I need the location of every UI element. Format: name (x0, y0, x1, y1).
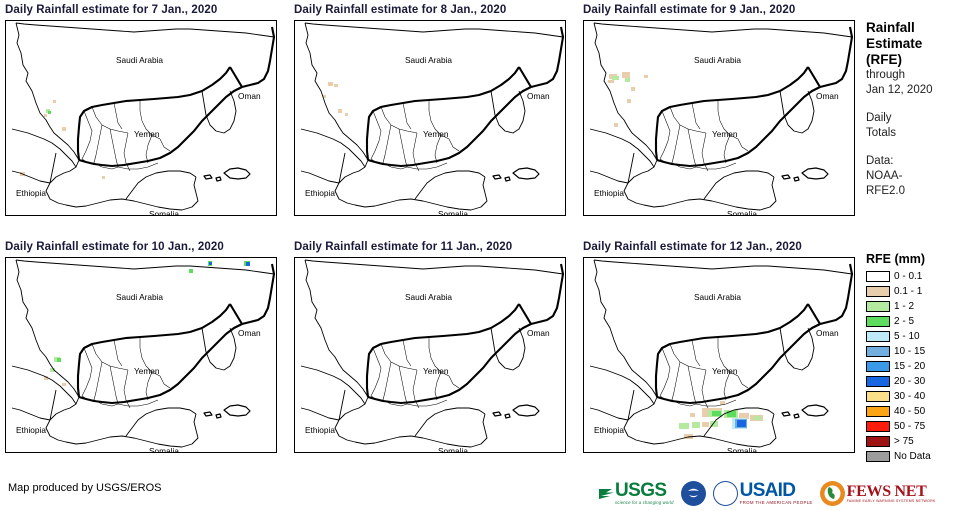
map-boundary (782, 412, 790, 416)
map-boundary (780, 328, 814, 370)
country-label: Ethiopia (16, 188, 46, 198)
country-label: Ethiopia (305, 188, 335, 198)
rainfall-cell (334, 84, 338, 87)
rainfall-cell (712, 411, 721, 416)
country-label: Oman (238, 328, 261, 338)
map-boundary (656, 304, 808, 397)
country-label: Somalia (727, 209, 757, 215)
map-boundary (146, 135, 152, 163)
map-boundary (78, 67, 230, 160)
rainfall-cell (102, 176, 105, 179)
legend-row: 30 - 40 (866, 389, 967, 404)
panel-title-4: Daily Rainfall estimate for 11 Jan., 202… (294, 240, 567, 256)
map-boundary (383, 125, 391, 163)
map-boundary (114, 340, 122, 366)
legend-row: 0 - 0.1 (866, 269, 967, 284)
legend-label: 50 - 75 (894, 421, 925, 432)
rainfall-cell (53, 100, 56, 103)
country-label: Saudi Arabia (405, 292, 452, 302)
rfe-title-line-3: (RFE) (866, 52, 967, 68)
map-boundary (82, 111, 92, 159)
usaid-wordmark: USAID (740, 482, 813, 500)
map-boundary (794, 177, 799, 181)
map-boundary (202, 328, 236, 370)
map-boundary (371, 348, 381, 396)
map-boundary (688, 366, 696, 404)
rfe-title-line-2: Estimate (866, 36, 967, 52)
country-label: Oman (527, 328, 550, 338)
country-label: Oman (238, 91, 261, 101)
map-boundary (435, 135, 441, 163)
map-boundary (114, 103, 122, 129)
map-boundary (403, 340, 411, 366)
map-boundary (692, 103, 700, 129)
map-boundary (656, 67, 808, 160)
rainfall-cell (246, 262, 250, 266)
panel-title-0: Daily Rainfall estimate for 7 Jan., 2020 (5, 3, 278, 19)
rainfall-cell (679, 423, 689, 429)
legend-label: > 75 (894, 436, 914, 447)
usgs-wave-icon (598, 485, 615, 502)
country-label: Saudi Arabia (405, 55, 452, 65)
map-boundary (724, 372, 730, 400)
rfe-data-line-2: NOAA- (866, 169, 967, 184)
map-panel-2[interactable]: Daily Rainfall estimate for 9 Jan., 2020… (583, 3, 856, 219)
rainfall-cell (57, 358, 61, 362)
map-boundary (672, 125, 680, 163)
map-boundary (399, 366, 407, 404)
rainfall-cell (338, 109, 342, 113)
legend-row: 40 - 50 (866, 404, 967, 419)
rainfall-cell (627, 99, 631, 103)
map-boundary (301, 408, 339, 420)
rainfall-cell (692, 422, 700, 428)
map-boundary (16, 260, 274, 274)
legend-swatch (866, 376, 890, 387)
map-boundary (435, 372, 441, 400)
map-panel-4[interactable]: Daily Rainfall estimate for 11 Jan., 202… (294, 240, 567, 456)
legend-swatch (866, 316, 890, 327)
legend-row: 1 - 2 (866, 299, 967, 314)
map-boundary (230, 304, 242, 324)
country-label: Saudi Arabia (694, 292, 741, 302)
map-boundary (802, 405, 828, 416)
map-boundary (110, 366, 118, 404)
legend-row: 15 - 20 (866, 359, 967, 374)
map-credit: Map produced by USGS/EROS (8, 482, 161, 494)
map-panel-0[interactable]: Daily Rainfall estimate for 7 Jan., 2020… (5, 3, 278, 219)
rainfall-cell (625, 78, 630, 82)
rfe-through-label: through (866, 68, 967, 83)
rainfall-cell (189, 269, 193, 273)
legend-heading: RFE (mm) (866, 252, 967, 266)
map-boundary (660, 111, 670, 159)
rainfall-cell (608, 80, 614, 83)
legend-swatch (866, 301, 890, 312)
legend-label: 2 - 5 (894, 316, 914, 327)
map-boundary (383, 362, 391, 400)
panel-title-2: Daily Rainfall estimate for 9 Jan., 2020 (583, 3, 856, 19)
map-panel-5[interactable]: Daily Rainfall estimate for 12 Jan., 202… (583, 240, 856, 456)
map-boundary (367, 67, 519, 160)
map-boundary (403, 103, 411, 129)
map-boundary (672, 362, 680, 400)
map-boundary (12, 129, 76, 167)
rainfall-cell (614, 123, 618, 127)
map-boundary (491, 91, 525, 133)
legend-row: 0.1 - 1 (866, 284, 967, 299)
info-spacer-2 (866, 141, 967, 154)
map-boundary (204, 412, 212, 416)
country-label: Yemen (423, 129, 449, 139)
country-label: Somalia (438, 446, 468, 452)
rainfall-map-0: Saudi ArabiaOmanYemenEthiopiaSomalia (6, 21, 276, 215)
map-boundary (449, 376, 459, 388)
map-boundary (519, 304, 531, 324)
map-boundary (704, 171, 774, 199)
map-boundary (519, 67, 531, 87)
legend-row: 10 - 15 (866, 344, 967, 359)
country-label: Yemen (712, 129, 738, 139)
rfe-data-line-1: Data: (866, 154, 967, 169)
rainfall-cell (612, 76, 619, 80)
usaid-tagline: FROM THE AMERICAN PEOPLE (740, 500, 813, 505)
map-boundary (590, 366, 654, 404)
rainfall-map-1: Saudi ArabiaOmanYemenEthiopiaSomalia (295, 21, 565, 215)
map-boundary (202, 91, 236, 133)
panel-title-3: Daily Rainfall estimate for 10 Jan., 202… (5, 240, 278, 256)
legend-swatch (866, 421, 890, 432)
legend-label: No Data (894, 451, 931, 462)
noaa-seal-icon (681, 481, 706, 506)
map-frame-0[interactable]: Saudi ArabiaOmanYemenEthiopiaSomalia (5, 20, 277, 216)
country-label: Somalia (149, 446, 179, 452)
rainfall-cell (345, 113, 348, 116)
legend-row: 20 - 30 (866, 374, 967, 389)
rainfall-cell (48, 111, 51, 114)
legend-swatch (866, 286, 890, 297)
map-boundary (738, 139, 748, 151)
legend-label: 20 - 30 (894, 376, 925, 387)
country-label: Saudi Arabia (116, 292, 163, 302)
map-boundary (493, 412, 501, 416)
map-boundary (491, 328, 525, 370)
map-boundary (590, 408, 628, 420)
rfe-info-block: Rainfall Estimate (RFE) through Jan 12, … (866, 20, 967, 199)
map-boundary (688, 129, 696, 167)
legend-row: No Data (866, 449, 967, 464)
map-boundary (738, 376, 748, 388)
map-boundary (305, 23, 563, 37)
rainfall-cell (622, 72, 630, 78)
map-boundary (794, 414, 799, 418)
map-panel-1[interactable]: Daily Rainfall estimate for 8 Jan., 2020… (294, 3, 567, 219)
map-boundary (594, 23, 852, 37)
agency-logo-row: USGS science for a changing world USAID … (598, 478, 935, 508)
map-boundary (513, 168, 539, 179)
fewsnet-globe-icon (820, 481, 845, 506)
legend-swatch (866, 451, 890, 462)
legend-row: > 75 (866, 434, 967, 449)
country-label: Oman (816, 328, 839, 338)
map-boundary (493, 175, 501, 179)
map-boundary (660, 348, 670, 396)
legend-swatch (866, 361, 890, 372)
usaid-logo[interactable]: USAID FROM THE AMERICAN PEOPLE (713, 479, 813, 507)
rfe-through-date: Jan 12, 2020 (866, 83, 967, 98)
country-label: Yemen (423, 366, 449, 376)
info-spacer-1 (866, 98, 967, 111)
panel-title-5: Daily Rainfall estimate for 12 Jan., 202… (583, 240, 856, 256)
noaa-logo[interactable] (681, 479, 706, 507)
legend-label: 10 - 15 (894, 346, 925, 357)
usgs-logo[interactable]: USGS science for a changing world (598, 479, 674, 507)
legend-label: 40 - 50 (894, 406, 925, 417)
noaa-bird-icon (685, 485, 702, 502)
map-boundary (216, 414, 221, 418)
rainfall-map-3: Saudi ArabiaOmanYemenEthiopiaSomalia (6, 258, 276, 452)
map-boundary (110, 129, 118, 167)
map-boundary (301, 366, 365, 404)
usgs-wordmark: USGS (615, 482, 674, 500)
rainfall-map-4: Saudi ArabiaOmanYemenEthiopiaSomalia (295, 258, 565, 452)
rainfall-cell (754, 416, 761, 420)
map-boundary (305, 260, 563, 274)
map-panel-grid: Daily Rainfall estimate for 7 Jan., 2020… (0, 0, 860, 475)
map-boundary (505, 177, 510, 181)
legend-label: 5 - 10 (894, 331, 920, 342)
map-frame-2[interactable]: Saudi ArabiaOmanYemenEthiopiaSomalia (583, 20, 855, 216)
country-label: Yemen (134, 129, 160, 139)
map-boundary (415, 408, 485, 436)
rainfall-cell (44, 114, 47, 117)
rainfall-cell (209, 262, 212, 265)
map-boundary (126, 171, 196, 199)
map-boundary (415, 171, 485, 199)
rainfall-cell (690, 413, 695, 417)
country-label: Ethiopia (305, 425, 335, 435)
map-boundary (594, 260, 852, 274)
map-frame-1[interactable]: Saudi ArabiaOmanYemenEthiopiaSomalia (294, 20, 566, 216)
country-label: Yemen (712, 366, 738, 376)
legend-swatch (866, 406, 890, 417)
country-label: Ethiopia (594, 425, 624, 435)
map-frame-3[interactable]: Saudi ArabiaOmanYemenEthiopiaSomalia (5, 257, 277, 453)
rainfall-cell (631, 87, 635, 91)
rainfall-map-5: Saudi ArabiaOmanYemenEthiopiaSomalia (584, 258, 854, 452)
rainfall-cell (62, 383, 66, 386)
usaid-seal-icon (713, 481, 738, 506)
map-boundary (12, 171, 50, 183)
map-boundary (782, 175, 790, 179)
map-boundary (12, 408, 50, 420)
rfe-totals-line-2: Totals (866, 126, 967, 141)
map-boundary (399, 129, 407, 167)
map-boundary (449, 139, 459, 151)
map-boundary (146, 372, 152, 400)
map-boundary (230, 67, 242, 87)
country-label: Yemen (134, 366, 160, 376)
rainfall-map-2: Saudi ArabiaOmanYemenEthiopiaSomalia (584, 21, 854, 215)
rainfall-cell (328, 82, 333, 86)
legend-row: 50 - 75 (866, 419, 967, 434)
fewsnet-tagline: FAMINE EARLY WARNING SYSTEMS NETWORK (847, 499, 936, 503)
map-boundary (216, 177, 221, 181)
map-boundary (94, 362, 102, 400)
legend-row-list: 0 - 0.10.1 - 11 - 22 - 55 - 1010 - 1515 … (866, 269, 967, 464)
map-boundary (505, 414, 510, 418)
country-label: Saudi Arabia (694, 55, 741, 65)
legend-swatch (866, 346, 890, 357)
country-label: Ethiopia (16, 425, 46, 435)
globe-icon (823, 484, 842, 503)
rfe-totals-line-1: Daily (866, 111, 967, 126)
map-boundary (808, 304, 820, 324)
rainfall-cell (702, 422, 709, 427)
rainfall-cell (644, 75, 648, 78)
map-boundary (78, 304, 230, 397)
map-boundary (16, 23, 274, 37)
rainfall-cell (62, 127, 66, 131)
legend-swatch (866, 271, 890, 282)
map-boundary (692, 340, 700, 366)
country-label: Oman (527, 91, 550, 101)
legend-swatch (866, 391, 890, 402)
legend-label: 30 - 40 (894, 391, 925, 402)
panel-title-1: Daily Rainfall estimate for 8 Jan., 2020 (294, 3, 567, 19)
legend-label: 15 - 20 (894, 361, 925, 372)
country-label: Saudi Arabia (116, 55, 163, 65)
country-label: Somalia (149, 209, 179, 215)
map-boundary (160, 139, 170, 151)
rfe-data-line-3: RFE2.0 (866, 184, 967, 199)
map-boundary (371, 111, 381, 159)
country-label: Oman (816, 91, 839, 101)
map-boundary (802, 168, 828, 179)
legend-label: 0 - 0.1 (894, 271, 922, 282)
legend-row: 2 - 5 (866, 314, 967, 329)
map-boundary (12, 366, 76, 404)
map-panel-3[interactable]: Daily Rainfall estimate for 10 Jan., 202… (5, 240, 278, 456)
country-label: Ethiopia (594, 188, 624, 198)
rfe-title-line-1: Rainfall (866, 20, 967, 36)
country-label: Somalia (727, 446, 757, 452)
map-boundary (367, 304, 519, 397)
legend-row: 5 - 10 (866, 329, 967, 344)
map-boundary (301, 129, 365, 167)
map-boundary (301, 171, 339, 183)
map-boundary (160, 376, 170, 388)
map-boundary (126, 408, 196, 436)
map-frame-4[interactable]: Saudi ArabiaOmanYemenEthiopiaSomalia (294, 257, 566, 453)
map-boundary (82, 348, 92, 396)
map-boundary (590, 129, 654, 167)
usgs-tagline: science for a changing world (615, 500, 674, 505)
map-boundary (808, 67, 820, 87)
map-boundary (224, 168, 250, 179)
rfe-legend: RFE (mm) 0 - 0.10.1 - 11 - 22 - 55 - 101… (866, 252, 967, 464)
fewsnet-wordmark: FEWS NET (847, 484, 936, 499)
legend-swatch (866, 436, 890, 447)
rainfall-cell (737, 420, 746, 427)
map-boundary (724, 135, 730, 163)
map-boundary (224, 405, 250, 416)
map-boundary (204, 175, 212, 179)
legend-swatch (866, 331, 890, 342)
country-label: Somalia (438, 209, 468, 215)
map-boundary (94, 125, 102, 163)
fewsnet-logo[interactable]: FEWS NET FAMINE EARLY WARNING SYSTEMS NE… (820, 479, 936, 507)
map-boundary (590, 171, 628, 183)
legend-label: 1 - 2 (894, 301, 914, 312)
map-boundary (780, 91, 814, 133)
legend-label: 0.1 - 1 (894, 286, 922, 297)
map-boundary (513, 405, 539, 416)
map-frame-5[interactable]: Saudi ArabiaOmanYemenEthiopiaSomalia (583, 257, 855, 453)
